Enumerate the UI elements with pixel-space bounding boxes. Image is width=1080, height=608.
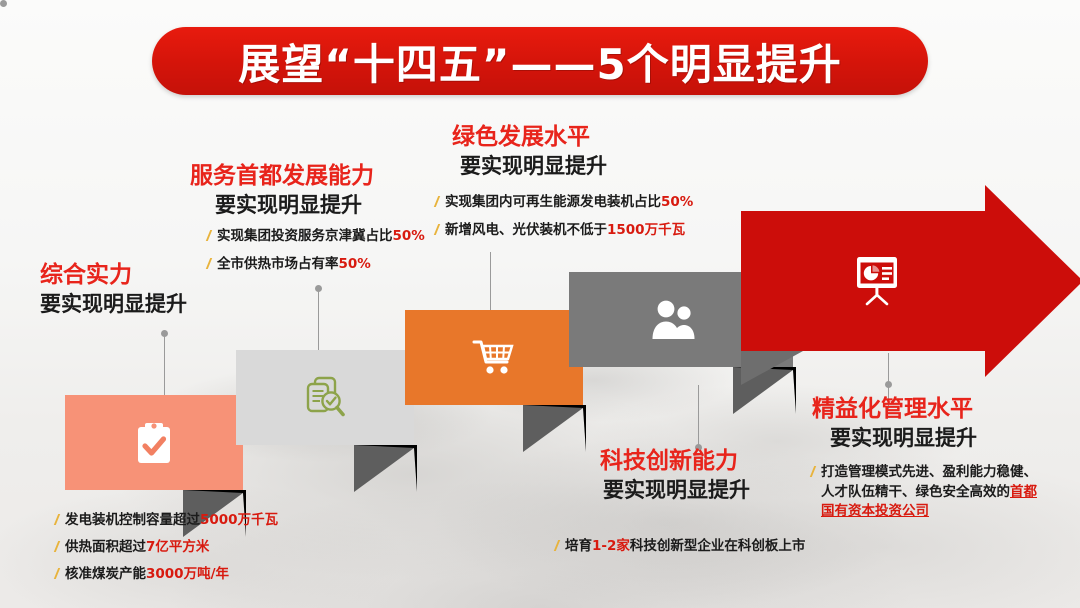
step-block-1[interactable]: [65, 395, 243, 490]
bullet-prefix: 打造管理模式先进、盈利能力稳健、人才队伍精干、绿色安全高效的: [821, 464, 1037, 500]
text-group-1-bullets: 发电装机控制容量超过5000万千瓦 供热面积超过7亿平方米 核准煤炭产能3000…: [56, 511, 356, 593]
bullet-item: 供热面积超过7亿平方米: [56, 538, 356, 556]
title-banner: 展望“十四五”——5个明显提升: [152, 27, 928, 95]
step-1-heading-black: 要实现明显提升: [40, 292, 310, 317]
step-block-2-face: [236, 350, 414, 445]
step-3-heading-red: 绿色发展水平: [452, 124, 772, 151]
bullet-prefix: 发电装机控制容量超过: [65, 512, 200, 528]
connector-line-3: [490, 252, 491, 312]
step-block-1-face: [65, 395, 243, 490]
bullet-item: 核准煤炭产能3000万吨/年: [56, 565, 356, 583]
people-icon: [647, 299, 699, 341]
text-group-3-bullets: 实现集团内可再生能源发电装机占比50% 新增风电、光伏装机不低于1500万千瓦: [436, 193, 772, 238]
shopping-cart-icon: [472, 338, 516, 378]
bullet-prefix: 培育: [565, 538, 592, 554]
step-block-2[interactable]: [236, 350, 414, 445]
bullet-item: 全市供热市场占有率50%: [208, 255, 490, 273]
bullet-prefix: 供热面积超过: [65, 539, 146, 555]
step-block-5[interactable]: [741, 211, 1080, 351]
bullet-emphasis: 1-2家: [592, 538, 630, 554]
bullet-item: 实现集团内可再生能源发电装机占比50%: [436, 193, 772, 211]
connector-dot-1: [161, 330, 168, 337]
slide-canvas: 展望“十四五”——5个明显提升: [0, 0, 1080, 608]
bullet-prefix: 全市供热市场占有率: [217, 256, 339, 272]
connector-line-1: [164, 333, 165, 395]
step-block-2-shadow: [354, 445, 417, 492]
connector-line-4: [698, 385, 699, 447]
arrow-head: [985, 185, 1080, 377]
step-block-5-shadow: [741, 351, 803, 385]
bullet-item: 发电装机控制容量超过5000万千瓦: [56, 511, 356, 529]
step-block-3-shadow: [523, 405, 586, 452]
text-group-3: 绿色发展水平 要实现明显提升 实现集团内可再生能源发电装机占比50% 新增风电、…: [452, 124, 772, 248]
bullet-prefix: 实现集团投资服务京津冀占比: [217, 228, 393, 244]
step-block-3-face: [405, 310, 583, 405]
bullet-prefix: 核准煤炭产能: [65, 566, 146, 582]
clipboard-check-icon: [134, 421, 174, 465]
page-title: 展望“十四五”——5个明显提升: [238, 31, 841, 92]
bullet-emphasis: 50%: [661, 194, 693, 210]
bullet-prefix: 实现集团内可再生能源发电装机占比: [445, 194, 661, 210]
step-2-heading-red: 服务首都发展能力: [190, 163, 490, 190]
bullet-emphasis: 50%: [339, 256, 371, 272]
presentation-board-icon: [851, 253, 903, 309]
bullet-emphasis: 7亿平方米: [146, 539, 209, 555]
bullet-item: 新增风电、光伏装机不低于1500万千瓦: [436, 221, 772, 239]
connector-dot-2: [315, 285, 322, 292]
text-group-5: 精益化管理水平 要实现明显提升 打造管理模式先进、盈利能力稳健、人才队伍精干、绿…: [812, 396, 1077, 531]
bullet-emphasis: 1500万千瓦: [607, 222, 685, 238]
connector-dot-5: [885, 381, 892, 388]
bullet-item: 打造管理模式先进、盈利能力稳健、人才队伍精干、绿色安全高效的首都国有资本投资公司: [812, 463, 1044, 522]
step-5-heading-red: 精益化管理水平: [812, 396, 1077, 423]
bullet-emphasis: 3000万吨/年: [146, 566, 229, 582]
bullet-suffix: 科技创新型企业在科创板上市: [630, 538, 806, 554]
step-3-heading-black: 要实现明显提升: [460, 154, 772, 179]
bullet-prefix: 新增风电、光伏装机不低于: [445, 222, 607, 238]
bullet-emphasis: 50%: [393, 228, 425, 244]
connector-line-2: [318, 288, 319, 350]
bullet-item: 培育1-2家科技创新型企业在科创板上市: [556, 537, 886, 555]
connector-dot-3: [0, 0, 7, 7]
bullet-emphasis: 5000万千瓦: [200, 512, 278, 528]
text-group-4-bullets: 培育1-2家科技创新型企业在科创板上市: [556, 537, 886, 564]
text-group-5-bullets: 打造管理模式先进、盈利能力稳健、人才队伍精干、绿色安全高效的首都国有资本投资公司: [812, 463, 1044, 522]
step-5-heading-black: 要实现明显提升: [830, 426, 1077, 451]
step-block-3[interactable]: [405, 310, 583, 405]
document-search-check-icon: [302, 375, 348, 421]
